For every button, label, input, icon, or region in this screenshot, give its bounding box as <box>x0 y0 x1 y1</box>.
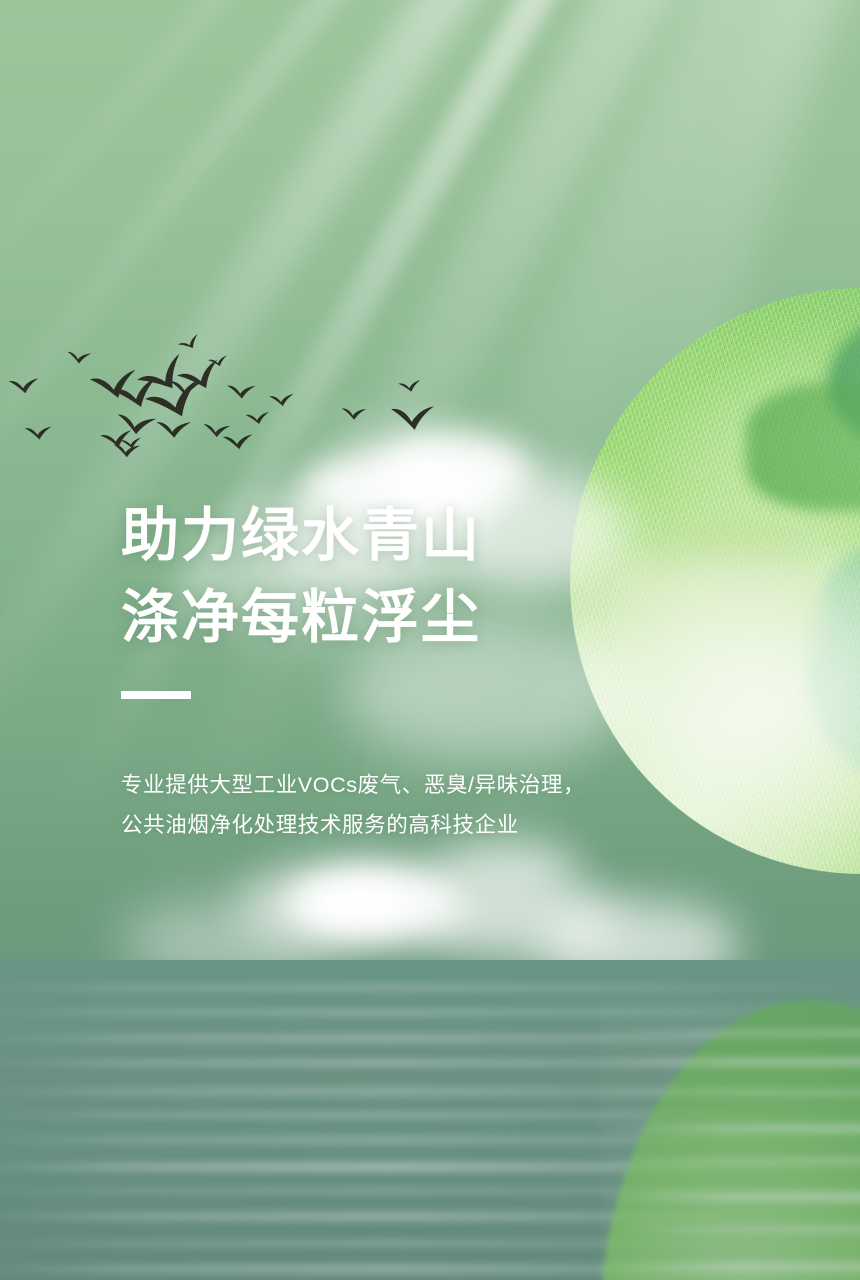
reflection-ripple <box>600 1262 860 1271</box>
reflection-ripple <box>600 1192 860 1202</box>
headline-line-1: 助力绿水青山 <box>121 495 481 577</box>
globe-highlight <box>570 288 860 874</box>
bird-icon <box>176 328 211 357</box>
bird-icon <box>65 348 99 369</box>
bird-icon <box>221 431 262 455</box>
accent-divider <box>121 691 191 699</box>
globe-reflection <box>600 1000 860 1280</box>
cloud <box>290 880 410 928</box>
eco-promo-poster: 助力绿水青山 涤净每粒浮尘 专业提供大型工业VOCs废气、恶臭/异味治理， 公共… <box>0 0 860 1280</box>
reflection-ripple <box>600 1124 860 1133</box>
birds-flock <box>0 330 460 460</box>
subtitle-line-2: 公共油烟净化处理技术服务的高科技企业 <box>121 805 585 845</box>
bird-icon <box>226 381 265 404</box>
bird-icon <box>24 423 61 444</box>
water-ripple <box>0 984 860 991</box>
reflection-ripple <box>600 1058 860 1066</box>
bird-icon <box>7 375 48 400</box>
reflection-ripple <box>600 1090 860 1095</box>
bird-icon <box>389 403 444 435</box>
headline-line-2: 涤净每粒浮尘 <box>121 577 481 659</box>
cloud <box>430 840 580 900</box>
earth-globe <box>570 288 860 874</box>
bird-icon <box>340 405 375 425</box>
subtitle: 专业提供大型工业VOCs废气、恶臭/异味治理， 公共油烟净化处理技术服务的高科技… <box>121 765 585 845</box>
bird-icon <box>244 408 278 429</box>
reflection-ripple <box>600 1158 860 1164</box>
reflection-ripple <box>600 1030 860 1036</box>
page-title: 助力绿水青山 涤净每粒浮尘 <box>121 495 481 659</box>
reflection-texture <box>600 1000 860 1280</box>
subtitle-line-1: 专业提供大型工业VOCs废气、恶臭/异味治理， <box>121 765 585 805</box>
reflection-ripple <box>600 1226 860 1233</box>
bird-icon <box>267 391 302 411</box>
bird-icon <box>397 376 429 398</box>
